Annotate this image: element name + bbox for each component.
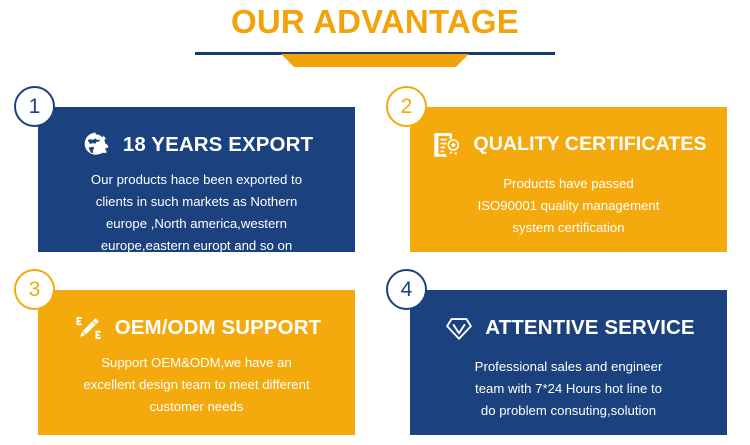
card-3-body: Support OEM&ODM,we have an excellent des…: [52, 352, 341, 418]
card-4-body-line: team with 7*24 Hours hot line to: [424, 378, 713, 400]
card-3-heading: OEM/ODM SUPPORT: [115, 318, 322, 339]
card-2-body-line: ISO90001 quality management: [424, 195, 713, 217]
card-3-body-line: excellent design team to meet different: [52, 374, 341, 396]
card-4-number-badge: 4: [386, 269, 427, 310]
card-3-number-badge: 3: [14, 269, 55, 310]
page-title: OUR ADVANTAGE: [0, 2, 750, 42]
card-1-body-line: europe,eastern europt and so on: [52, 235, 341, 257]
advantage-card-4[interactable]: ATTENTIVE SERVICE Professional sales and…: [410, 290, 727, 435]
advantage-card-1[interactable]: 18 YEARS EXPORT Our products hace been e…: [38, 107, 355, 252]
pencil-design-icon: [72, 311, 106, 345]
card-1-body-line: clients in such markets as Nothern: [52, 191, 341, 213]
advantage-infographic: OUR ADVANTAGE 18 YEARS EXPORT: [0, 0, 750, 445]
card-4-body-line: Professional sales and engineer: [424, 356, 713, 378]
card-1-body-line: Our products hace been exported to: [52, 169, 341, 191]
title-divider: [195, 52, 555, 74]
card-4-body: Professional sales and engineer team wit…: [424, 356, 713, 422]
card-2-body-line: Products have passed: [424, 173, 713, 195]
card-2-body: Products have passed ISO90001 quality ma…: [424, 173, 713, 239]
advantage-card-2[interactable]: QUALITY CERTIFICATES Products have passe…: [410, 107, 727, 252]
card-4-header: ATTENTIVE SERVICE: [410, 308, 727, 348]
card-3-body-line: Support OEM&ODM,we have an: [52, 352, 341, 374]
card-1-body-line: europe ,North america,western: [52, 213, 341, 235]
diamond-check-icon: [442, 311, 476, 345]
certificate-seal-icon: [430, 128, 464, 162]
card-2-heading: QUALITY CERTIFICATES: [473, 135, 706, 155]
card-2-header: QUALITY CERTIFICATES: [410, 125, 727, 165]
card-1-number-badge: 1: [14, 86, 55, 127]
card-1-header: 18 YEARS EXPORT: [38, 125, 355, 165]
card-2-number-badge: 2: [386, 86, 427, 127]
card-4-heading: ATTENTIVE SERVICE: [485, 318, 694, 339]
card-4-body-line: do problem consuting,solution: [424, 400, 713, 422]
card-2-body-line: system certification: [424, 217, 713, 239]
card-1-heading: 18 YEARS EXPORT: [123, 135, 313, 156]
card-1-body: Our products hace been exported to clien…: [52, 169, 341, 257]
card-3-body-line: customer needs: [52, 396, 341, 418]
advantage-card-3[interactable]: OEM/ODM SUPPORT Support OEM&ODM,we have …: [38, 290, 355, 435]
globe-exchange-icon: [80, 128, 114, 162]
card-3-header: OEM/ODM SUPPORT: [38, 308, 355, 348]
divider-trapezoid-icon: [281, 54, 469, 67]
